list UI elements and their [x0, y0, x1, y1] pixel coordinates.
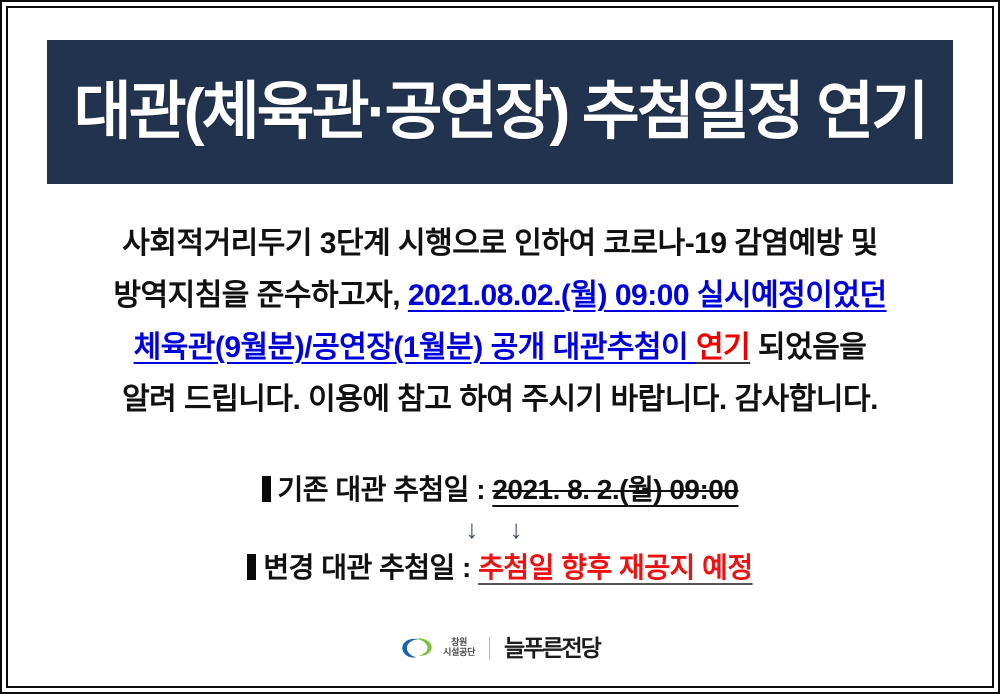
body-line-3-keyword-postponed: 연기 — [696, 331, 750, 364]
title-banner: 대관(체육관·공연장) 추첨일정 연기 — [47, 40, 953, 184]
logo-org-line-2: 시설공단 — [443, 648, 475, 658]
body-line-2-prefix: 방역지침을 준수하고자, — [113, 279, 408, 312]
notice-page: 대관(체육관·공연장) 추첨일정 연기 사회적거리두기 3단계 시행으로 인하여… — [0, 0, 1000, 694]
changwon-facilities-swoosh-icon — [400, 636, 434, 660]
changed-draw-label: 변경 대관 추첨일 : — [263, 552, 478, 583]
schedule-block: 기존 대관 추첨일 : 2021. 8. 2.(월) 09:00 ↓ ↓ 변경 … — [42, 468, 958, 590]
body-line-2: 방역지침을 준수하고자, 2021.08.02.(월) 09:00 실시예정이었… — [42, 270, 958, 322]
body-line-1-text: 사회적거리두기 3단계 시행으로 인하여 코로나-19 감염예방 및 — [122, 227, 877, 260]
body-line-4-text: 알려 드립니다. 이용에 참고 하여 주시기 바랍니다. 감사합니다. — [122, 383, 878, 416]
body-line-3: 체육관(9월분)/공연장(1월분) 공개 대관추첨이 연기 되었음을 — [42, 322, 958, 374]
schedule-row-changed: 변경 대관 추첨일 : 추첨일 향후 재공지 예정 — [42, 546, 958, 590]
body-line-2-highlight: 2021.08.02.(월) 09:00 실시예정이었던 — [408, 279, 887, 312]
square-bullet-icon — [247, 554, 256, 580]
down-arrow-icon: ↓ ↓ — [465, 514, 534, 544]
logo-hall-name: 늘푸른전당 — [504, 637, 600, 660]
notice-body: 사회적거리두기 3단계 시행으로 인하여 코로나-19 감염예방 및 방역지침을… — [42, 218, 958, 426]
page-title: 대관(체육관·공연장) 추첨일정 연기 — [74, 81, 926, 144]
original-draw-value: 2021. 8. 2.(월) 09:00 — [492, 474, 738, 505]
page-inner: 대관(체육관·공연장) 추첨일정 연기 사회적거리두기 3단계 시행으로 인하여… — [2, 2, 998, 692]
schedule-row-original: 기존 대관 추첨일 : 2021. 8. 2.(월) 09:00 — [42, 468, 958, 512]
body-line-1: 사회적거리두기 3단계 시행으로 인하여 코로나-19 감염예방 및 — [42, 218, 958, 270]
square-bullet-icon — [262, 476, 271, 502]
logo-org-name: 창원 시설공단 — [443, 638, 475, 657]
changed-draw-value: 추첨일 향후 재공지 예정 — [478, 552, 752, 583]
original-draw-label: 기존 대관 추첨일 : — [278, 474, 493, 505]
body-line-3-suffix: 되었음을 — [750, 331, 866, 364]
logo-divider — [489, 637, 490, 660]
body-line-3-highlight: 체육관(9월분)/공연장(1월분) 공개 대관추첨이 — [134, 331, 696, 364]
change-arrow-row: ↓ ↓ — [42, 512, 958, 546]
footer-logo: 창원 시설공단 늘푸른전당 — [42, 636, 958, 660]
body-line-4: 알려 드립니다. 이용에 참고 하여 주시기 바랍니다. 감사합니다. — [42, 374, 958, 426]
